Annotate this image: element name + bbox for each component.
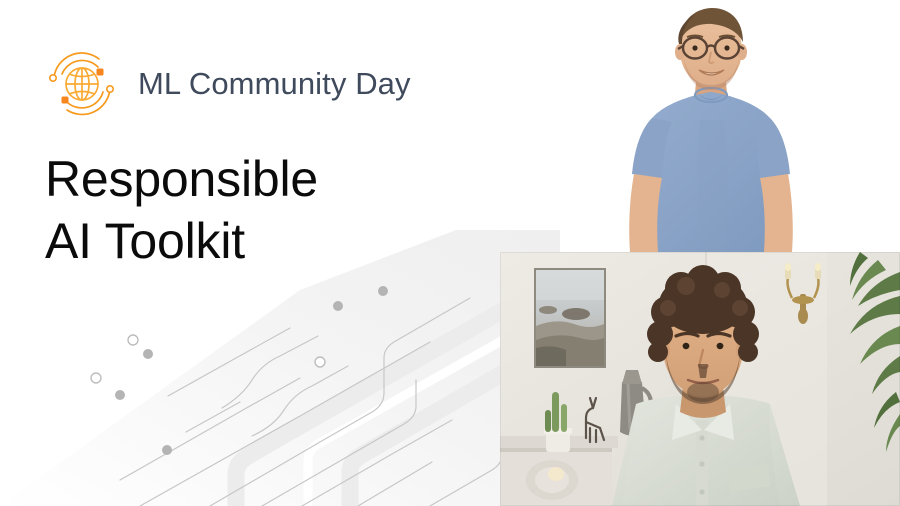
page-title-line-1: Responsible xyxy=(45,148,475,210)
wall-painting xyxy=(534,268,606,368)
circuit-node-filled xyxy=(107,286,388,506)
speaker-video-tile[interactable] xyxy=(500,252,900,506)
brand-name: ML Community Day xyxy=(138,66,411,102)
brand-lockup: ML Community Day xyxy=(42,44,411,124)
globe-orbit-icon xyxy=(42,44,122,124)
page-title: Responsible AI Toolkit xyxy=(45,148,475,272)
presenter-cutout-photo xyxy=(600,0,900,252)
page-title-line-2: AI Toolkit xyxy=(45,210,475,272)
circuit-node-hollow xyxy=(91,335,325,383)
slide-root: ML Community Day Responsible AI Toolkit xyxy=(0,0,900,506)
